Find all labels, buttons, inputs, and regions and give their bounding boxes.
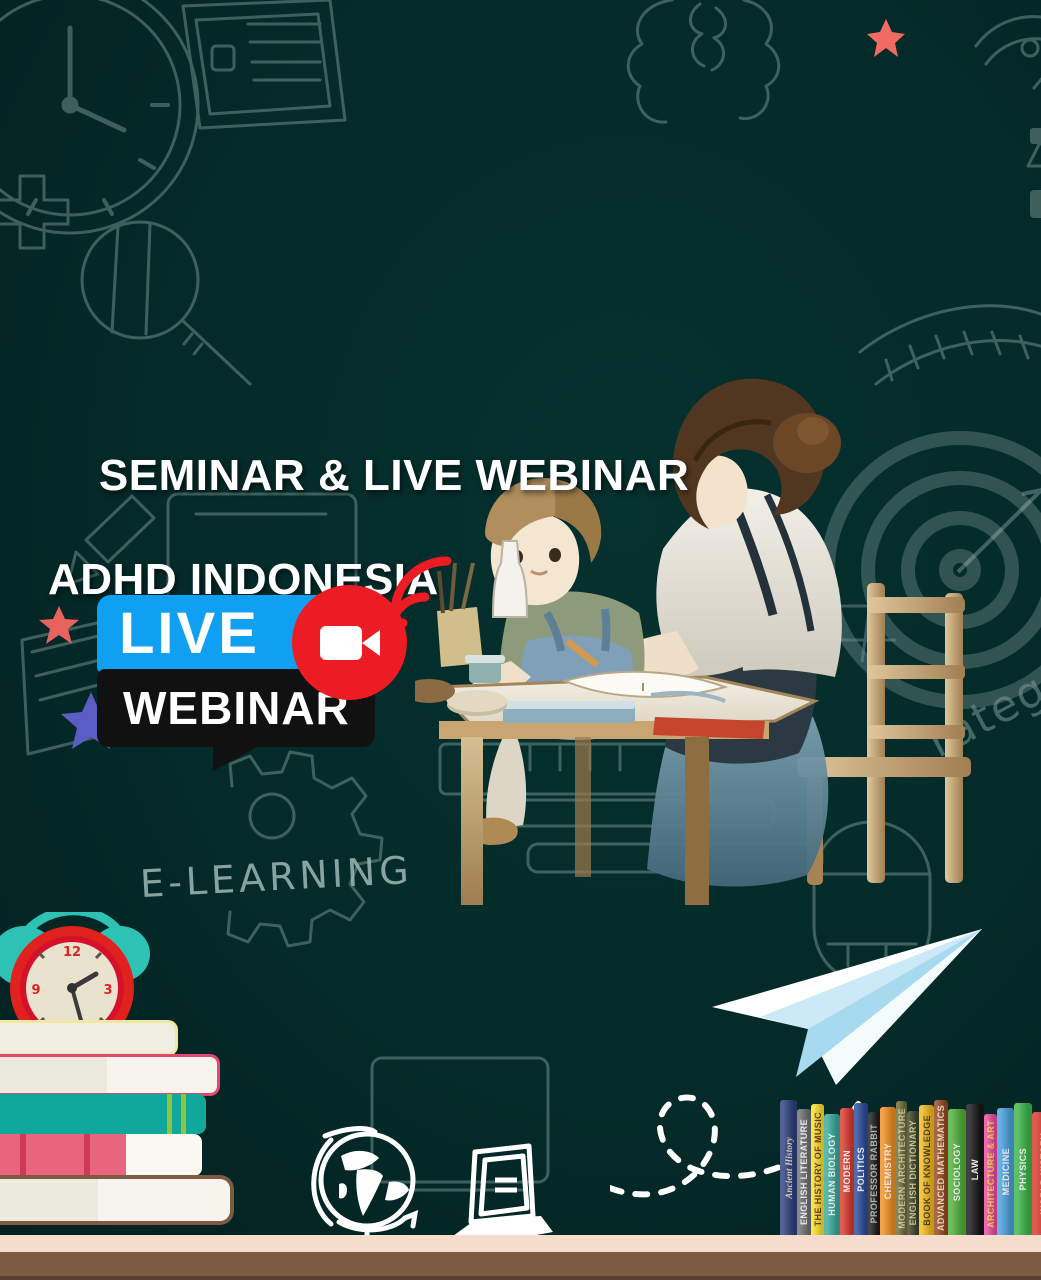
svg-text:12: 12 [63, 945, 81, 960]
book-spine-title: Ancient History [784, 1137, 794, 1199]
book-spine-title: Sociology [952, 1143, 962, 1201]
book-spine-title: Chemistry [883, 1143, 893, 1199]
webinar-label: WEBINAR [123, 685, 350, 731]
book-spine: Politics [854, 1103, 868, 1235]
book-spine-title: The History of Music [813, 1112, 823, 1226]
shelf-front-edge [0, 1252, 1041, 1280]
bubble-tail [213, 745, 261, 771]
book-spine: Architecture & Art [984, 1114, 997, 1236]
book-spine: The History of Music [811, 1104, 824, 1235]
live-webinar-badge[interactable]: LIVE WEBINAR [97, 583, 417, 768]
star-coral-left [38, 604, 80, 651]
camera-body [320, 626, 362, 660]
book-spine-title: Law [970, 1159, 980, 1180]
book-spine-title: Professor Rabbit [869, 1124, 879, 1223]
book-spine-title: Human Biology [827, 1133, 837, 1216]
list-item [0, 1134, 202, 1176]
video-camera-badge [292, 585, 407, 700]
book-spine: Law [966, 1104, 984, 1235]
svg-text:3: 3 [103, 983, 112, 998]
book-spine-title: Physics [1018, 1148, 1028, 1190]
book-spine-title: Modern [842, 1150, 852, 1192]
star-coral-top [866, 18, 906, 63]
book-spine: Ancient History [780, 1100, 797, 1235]
book-spine-title: English Literature [799, 1119, 809, 1225]
book-spine-title: Architecture & Art [986, 1120, 996, 1228]
list-item [0, 1175, 234, 1225]
book-spine: Sociology [948, 1109, 966, 1235]
book-spine: Modern Architecture [896, 1101, 907, 1235]
book-spine-title: Advanced Mathematics [936, 1105, 946, 1231]
book-spine: Advanced Mathematics [934, 1100, 948, 1235]
book-spine: World History [1032, 1112, 1041, 1235]
svg-text:9: 9 [31, 983, 40, 998]
live-label: LIVE [119, 605, 260, 663]
book-spine: Physics [1014, 1103, 1032, 1235]
book-spine: Modern [840, 1108, 854, 1235]
stacked-books-group [0, 1020, 256, 1235]
list-item [0, 1094, 206, 1134]
book-spine: Human Biology [824, 1114, 840, 1236]
book-spine-title: Modern Architecture [897, 1108, 907, 1229]
book-spine: Book of Knowledge [919, 1105, 934, 1235]
paper-plane-icon [690, 925, 990, 1085]
list-item [0, 1054, 220, 1096]
book-spines-shelf: Ancient HistoryEnglish LiteratureThe His… [780, 1100, 1041, 1235]
book-spine-title: English Dictionary [908, 1120, 918, 1225]
list-item [0, 1020, 178, 1056]
shelf-surface [0, 1235, 1041, 1252]
book-spine-title: Medicine [1001, 1148, 1011, 1195]
book-spine: Chemistry [880, 1107, 896, 1235]
book-spine: English Literature [797, 1109, 811, 1235]
camera-lens [362, 630, 380, 656]
book-spine: Professor Rabbit [868, 1112, 880, 1235]
video-camera-icon [320, 626, 380, 660]
book-spine: Medicine [997, 1108, 1014, 1235]
book-spine: English Dictionary [907, 1111, 919, 1235]
book-spine-title: Politics [856, 1147, 866, 1192]
poster-canvas: E-LEARNING rateg [0, 0, 1041, 1280]
book-spine-title: Book of Knowledge [922, 1115, 932, 1226]
headline-line-1: SEMINAR & LIVE WEBINAR [99, 451, 689, 500]
